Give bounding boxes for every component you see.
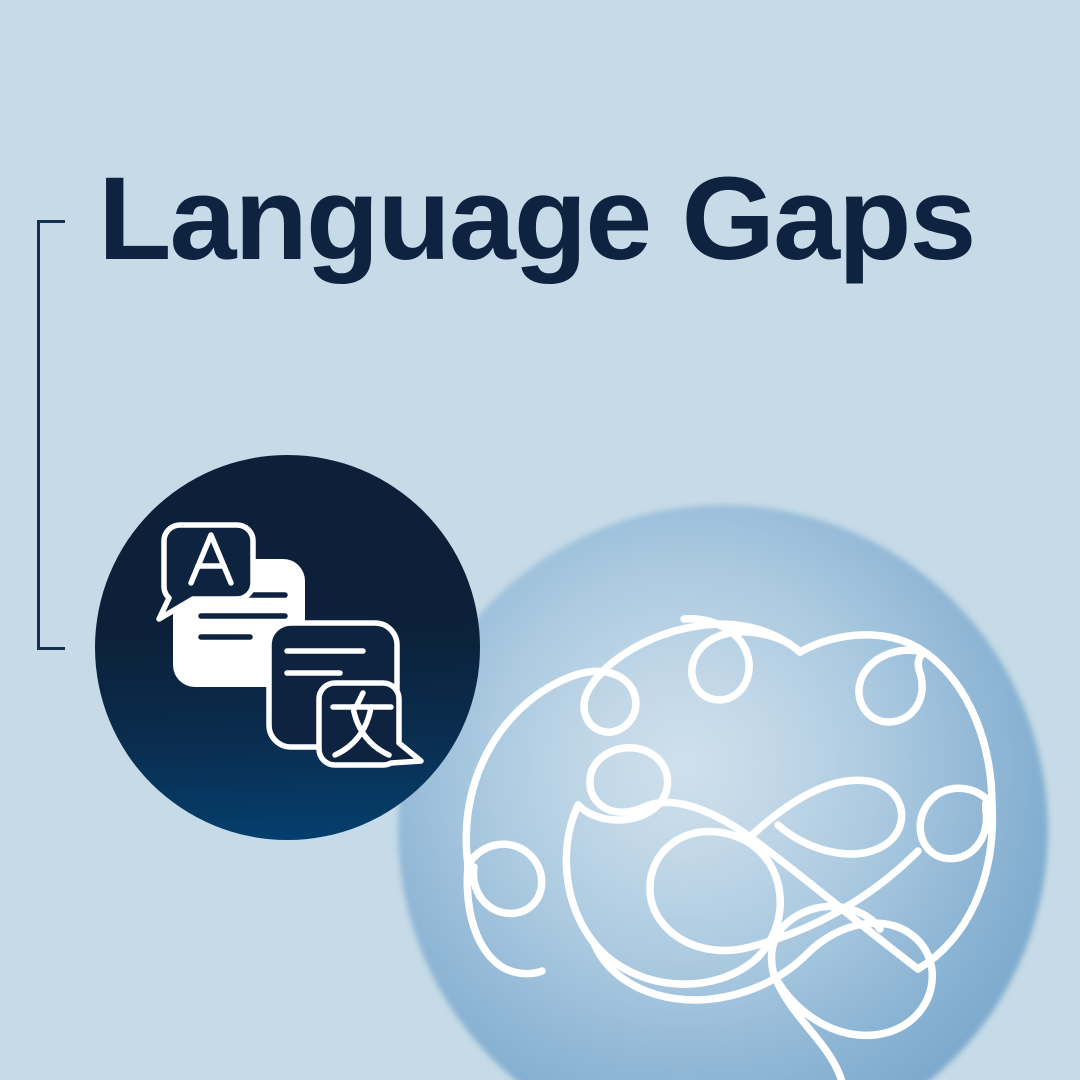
brain-line-icon bbox=[398, 505, 1048, 1080]
poster-canvas: Language Gaps bbox=[0, 0, 1080, 1080]
page-title: Language Gaps bbox=[98, 160, 974, 278]
speech-bubble-cjk bbox=[319, 683, 421, 765]
translate-icon bbox=[95, 455, 480, 840]
left-bracket-accent bbox=[37, 220, 65, 650]
